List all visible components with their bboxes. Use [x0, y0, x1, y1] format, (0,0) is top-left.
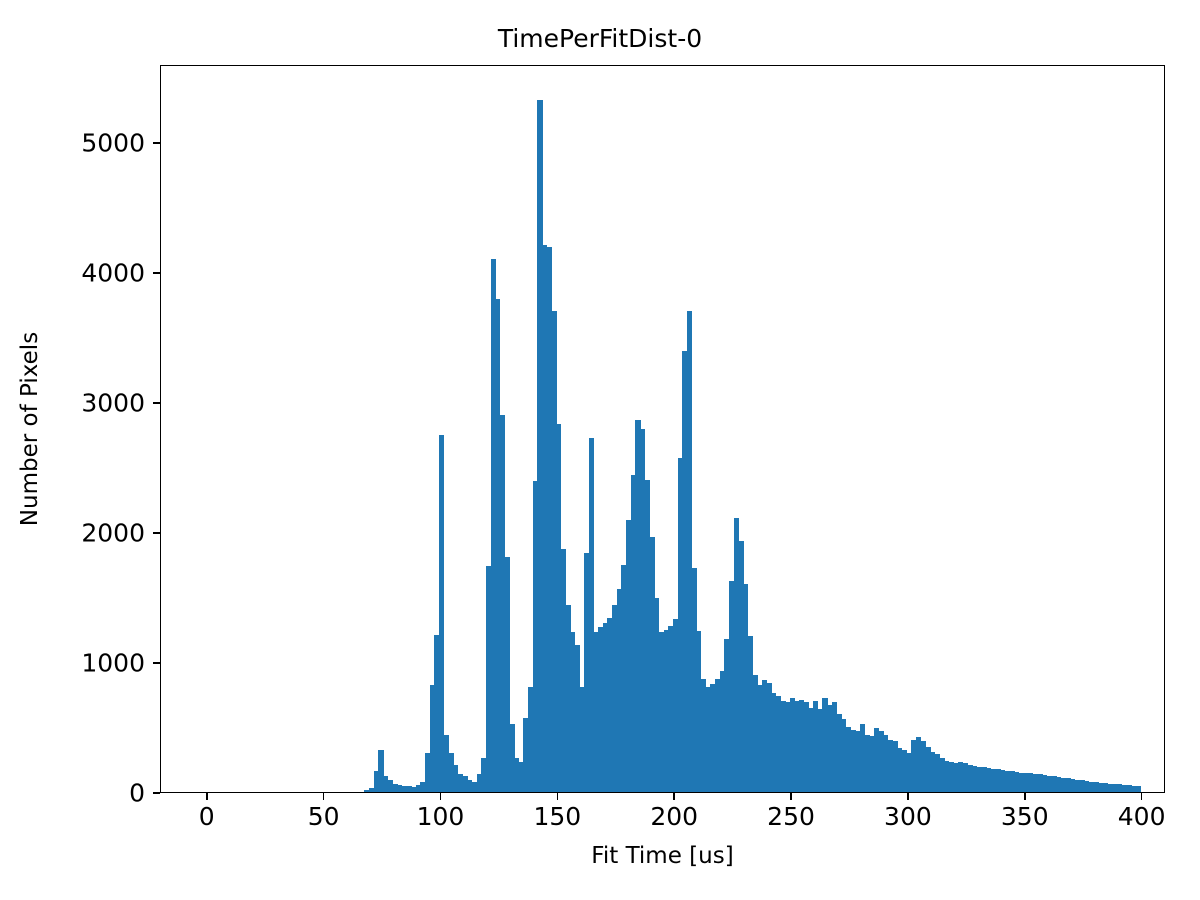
y-tick-label: 0	[145, 779, 161, 807]
x-tick-label: 350	[1001, 803, 1049, 831]
x-tick-label: 0	[199, 803, 215, 831]
histogram-bars	[161, 66, 1164, 792]
histogram-bar	[1136, 786, 1141, 792]
y-tick-label: 2000	[145, 519, 209, 547]
x-tick-label: 400	[1118, 803, 1166, 831]
x-tick-mark	[440, 793, 442, 800]
y-tick-label: 1000	[145, 649, 209, 677]
y-tick-label: 5000	[145, 129, 209, 157]
x-tick-label: 50	[308, 803, 340, 831]
x-tick-mark	[1141, 793, 1143, 800]
x-tick-mark	[1024, 793, 1026, 800]
x-tick-mark	[557, 793, 559, 800]
x-axis-label: Fit Time [us]	[160, 843, 1165, 869]
x-tick-label: 150	[533, 803, 581, 831]
x-tick-mark	[790, 793, 792, 800]
x-tick-label: 200	[650, 803, 698, 831]
x-tick-label: 250	[767, 803, 815, 831]
y-tick-label: 3000	[145, 389, 209, 417]
histogram-figure: TimePerFitDist-0 05010015020025030035040…	[0, 0, 1200, 900]
page-title: TimePerFitDist-0	[0, 26, 1200, 51]
x-tick-label: 100	[417, 803, 465, 831]
y-tick-label: 4000	[145, 259, 209, 287]
x-tick-mark	[907, 793, 909, 800]
y-axis-label: Number of Pixels	[15, 65, 45, 793]
x-tick-label: 300	[884, 803, 932, 831]
x-tick-mark	[206, 793, 208, 800]
x-tick-mark	[673, 793, 675, 800]
x-tick-mark	[323, 793, 325, 800]
plot-area	[160, 65, 1165, 793]
